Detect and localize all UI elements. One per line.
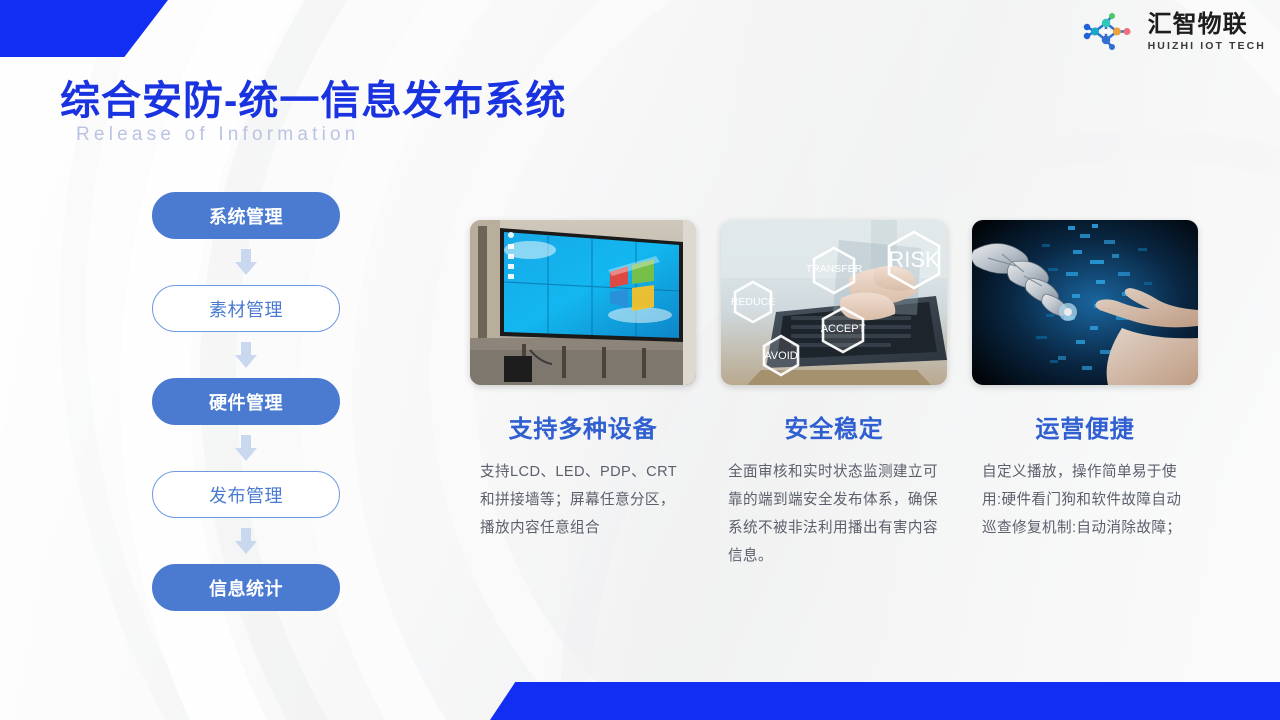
flow-step-label: 信息统计 bbox=[209, 575, 283, 601]
process-flow: 系统管理 素材管理 硬件管理 发布管理 bbox=[152, 192, 340, 611]
flow-step-information-statistics[interactable]: 信息统计 bbox=[152, 564, 340, 611]
brand-logo: 汇智物联 HUIZHI IOT TECH bbox=[1083, 10, 1266, 54]
arrow-down-icon bbox=[233, 518, 259, 564]
arrow-down-icon bbox=[233, 332, 259, 378]
video-wall-windows-photo bbox=[470, 220, 696, 385]
molecule-network-icon bbox=[1083, 10, 1139, 54]
card-title: 支持多种设备 bbox=[509, 409, 658, 444]
feature-card: RISK TRANSFER REDUCE ACCEPT AVOID 安全稳定 全… bbox=[721, 220, 947, 570]
card-body: 自定义播放，操作简单易于使用:硬件看门狗和软件故障自动巡查修复机制:自动消除故障… bbox=[982, 458, 1188, 542]
robot-human-hand-data-photo bbox=[972, 220, 1198, 385]
svg-text:ACCEPT: ACCEPT bbox=[821, 323, 866, 335]
feature-card: 运营便捷 自定义播放，操作简单易于使用:硬件看门狗和软件故障自动巡查修复机制:自… bbox=[972, 220, 1198, 570]
feature-cards: 支持多种设备 支持LCD、LED、PDP、CRT和拼接墙等；屏幕任意分区，播放内… bbox=[470, 220, 1198, 570]
svg-text:AVOID: AVOID bbox=[764, 350, 797, 362]
corner-decoration-bottom-right bbox=[490, 682, 1280, 720]
flow-step-release-management[interactable]: 发布管理 bbox=[152, 471, 340, 518]
flow-step-hardware-management[interactable]: 硬件管理 bbox=[152, 378, 340, 425]
svg-text:RISK: RISK bbox=[888, 247, 940, 272]
svg-text:REDUCE: REDUCE bbox=[731, 296, 775, 308]
arrow-down-icon bbox=[233, 425, 259, 471]
card-title: 运营便捷 bbox=[1035, 409, 1134, 444]
brand-name-en: HUIZHI IOT TECH bbox=[1148, 41, 1266, 52]
page-title: 综合安防-统一信息发布系统 bbox=[60, 68, 566, 126]
card-title: 安全稳定 bbox=[784, 409, 883, 444]
feature-card: 支持多种设备 支持LCD、LED、PDP、CRT和拼接墙等；屏幕任意分区，播放内… bbox=[470, 220, 696, 570]
flow-step-label: 发布管理 bbox=[209, 482, 283, 508]
card-body: 支持LCD、LED、PDP、CRT和拼接墙等；屏幕任意分区，播放内容任意组合 bbox=[480, 458, 686, 542]
svg-text:TRANSFER: TRANSFER bbox=[806, 263, 863, 275]
flow-step-label: 素材管理 bbox=[209, 296, 283, 322]
brand-name-cn: 汇智物联 bbox=[1148, 13, 1266, 37]
page-subtitle: Release of Information bbox=[76, 124, 360, 146]
corner-decoration-top-left bbox=[0, 0, 168, 57]
risk-hexagons-laptop-photo: RISK TRANSFER REDUCE ACCEPT AVOID bbox=[721, 220, 947, 385]
flow-step-material-management[interactable]: 素材管理 bbox=[152, 285, 340, 332]
flow-step-label: 硬件管理 bbox=[209, 389, 283, 415]
card-body: 全面审核和实时状态监测建立可靠的端到端安全发布体系，确保系统不被非法利用播出有害… bbox=[728, 458, 940, 570]
slide: 汇智物联 HUIZHI IOT TECH 综合安防-统一信息发布系统 Relea… bbox=[0, 0, 1280, 720]
arrow-down-icon bbox=[233, 239, 259, 285]
flow-step-label: 系统管理 bbox=[209, 203, 283, 229]
flow-step-system-management[interactable]: 系统管理 bbox=[152, 192, 340, 239]
